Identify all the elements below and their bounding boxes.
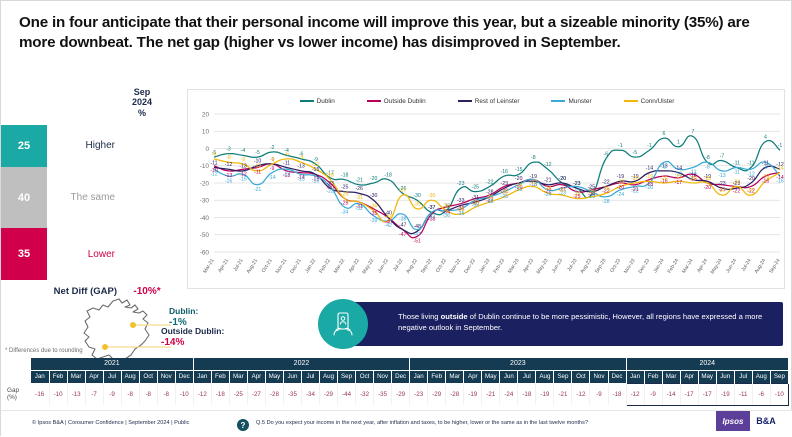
table-month-header: Jul <box>301 370 319 383</box>
table-month-header: Feb <box>428 370 446 383</box>
page-title: One in four anticipate that their person… <box>19 13 775 53</box>
map-note-outside-dublin: Outside Dublin: -14% <box>161 327 224 348</box>
ireland-map <box>75 297 171 365</box>
data-label: -21 <box>355 178 363 184</box>
table-month-header: Jul <box>103 370 121 383</box>
data-label: -25 <box>471 184 479 190</box>
data-label: -12 <box>544 162 552 168</box>
data-label: -22 <box>733 179 741 185</box>
x-tick-label: Mar-24 <box>681 258 695 275</box>
legend-label: Munster <box>568 98 591 105</box>
table-month-header: Jun <box>716 370 734 383</box>
data-label: -20 <box>515 176 523 182</box>
data-label: -36 <box>442 213 450 219</box>
table-month-header: Nov <box>157 370 175 383</box>
footer-bar: © Ipsos B&A | Consumer Confidence | Sept… <box>1 410 792 437</box>
table-value-row: Gap(%)-16-10-13-7-9-8-8-8-10-12-18-25-27… <box>5 383 789 405</box>
data-label: -8 <box>662 165 667 171</box>
data-label: -14 <box>268 175 276 181</box>
x-tick-label: Apr-21 <box>217 258 230 274</box>
net-diff-label: Net Diff (GAP) <box>25 286 117 297</box>
survey-question-text: Q.5 Do you expect your income in the nex… <box>256 419 676 427</box>
line-chart-panel: DublinOutside DublinRest of LeinsterMuns… <box>187 89 785 289</box>
data-label: -39 <box>370 218 378 224</box>
data-label: -22 <box>602 179 610 185</box>
table-month-header: Apr <box>247 370 265 383</box>
x-tick-label: Jun-23 <box>551 258 564 274</box>
data-label: -29 <box>573 191 581 197</box>
data-label: -12 <box>747 171 755 177</box>
data-label: -11 <box>747 160 754 166</box>
data-label: -22 <box>617 179 625 185</box>
net-diff-value: -10%* <box>119 286 175 297</box>
table-month-header: Aug <box>320 370 338 383</box>
legend-label: Conn/Ulster <box>641 98 675 105</box>
bar-label-the-same: The same <box>29 192 115 203</box>
legend-swatch <box>551 100 565 102</box>
data-label: -6 <box>212 152 217 158</box>
data-label: -16 <box>312 178 320 184</box>
y-tick-label: -50 <box>200 232 210 239</box>
x-tick-label: Feb-24 <box>667 258 681 275</box>
x-tick-label: May-24 <box>710 258 724 276</box>
table-gap-value: -6 <box>752 383 770 405</box>
data-label: -30 <box>428 193 436 199</box>
map-dot-dublin <box>130 322 136 328</box>
data-label: -37 <box>428 215 436 221</box>
table-gap-value: -14 <box>662 383 680 405</box>
table-gap-value: -32 <box>356 383 374 405</box>
table-gap-value: -34 <box>301 383 319 405</box>
map-note-outside-label: Outside Dublin: <box>161 326 224 336</box>
bar-column-header: Sep 2024 % <box>109 87 175 118</box>
data-label: -20 <box>617 185 625 191</box>
data-label: -48 <box>413 224 421 230</box>
data-label: -36 <box>442 203 450 209</box>
table-gap-value: -21 <box>554 383 572 405</box>
data-label: -8 <box>705 155 710 161</box>
data-label: -4 <box>241 148 246 154</box>
ipsos-logo-text: Ipsos <box>716 411 750 431</box>
slide-root: One in four anticipate that their person… <box>0 0 792 436</box>
question-mark-icon: ? <box>237 419 249 431</box>
table-month-header: Oct <box>139 370 157 383</box>
x-tick-label: Mar-21 <box>202 258 216 275</box>
data-label: -12 <box>225 162 233 168</box>
copyright-text: © Ipsos B&A | Consumer Confidence | Sept… <box>32 420 189 426</box>
data-label: -24 <box>544 192 552 198</box>
y-tick-label: -10 <box>200 163 210 170</box>
data-label: -1 <box>647 143 652 149</box>
footnote: * Differences due to rounding <box>5 348 83 354</box>
table-month-header: Dec <box>392 370 410 383</box>
data-label: -38 <box>399 216 407 222</box>
table-gap-value: -21 <box>482 383 500 405</box>
data-label: 7 <box>691 129 694 135</box>
y-tick-label: 10 <box>202 129 210 136</box>
table-gap-value: -9 <box>644 383 662 405</box>
data-label: -20 <box>631 176 639 182</box>
table-year-header-row: 2021202220232024 <box>5 358 789 370</box>
data-label: -25 <box>341 184 349 190</box>
table-month-header: Nov <box>590 370 608 383</box>
table-gap-value: -17 <box>680 383 698 405</box>
x-tick-label: Aug-24 <box>754 258 768 275</box>
data-label: -30 <box>370 193 378 199</box>
gap-timeline-table: 2021202220232024 JanFebMarAprJulAugOctNo… <box>5 358 789 408</box>
legend-item-rest-of-leinster[interactable]: Rest of Leinster <box>458 98 520 105</box>
callout-box: Those living outside of Dublin continue … <box>334 302 783 346</box>
table-gap-value: -28 <box>446 383 464 405</box>
data-label: -23 <box>457 181 465 187</box>
data-label: -20 <box>704 176 712 182</box>
chart-legend: DublinOutside DublinRest of LeinsterMuns… <box>188 94 786 108</box>
table-year-2023: 2023 <box>410 358 626 370</box>
x-tick-label: Jul-21 <box>232 258 244 273</box>
data-label: -33 <box>457 198 465 204</box>
table-gap-value: -18 <box>211 383 229 405</box>
data-label: -31 <box>355 195 363 201</box>
data-label: -47 <box>399 232 407 238</box>
table-month-header: Jul <box>734 370 752 383</box>
data-label: -19 <box>675 174 683 180</box>
data-label: -13 <box>718 173 726 179</box>
x-tick-label: Aug-21 <box>246 258 260 275</box>
table-month-header: Aug <box>121 370 139 383</box>
data-label: -8 <box>531 155 536 161</box>
table-month-header: Jan <box>410 370 428 383</box>
x-tick-label: Jul-24 <box>740 258 752 273</box>
table-month-header: Sep <box>770 370 788 383</box>
x-tick-label: May-23 <box>536 258 550 276</box>
table-gap-value: -35 <box>374 383 392 405</box>
table-month-header: May <box>265 370 283 383</box>
data-label: -34 <box>471 200 479 206</box>
x-tick-label: Oct-21 <box>261 258 274 274</box>
bar-header-year: 2024 <box>132 97 152 107</box>
data-label: -29 <box>341 201 349 207</box>
table-gap-value: -19 <box>464 383 482 405</box>
legend-item-munster[interactable]: Munster <box>551 98 591 105</box>
data-label: -26 <box>602 186 610 192</box>
x-tick-label: May-22 <box>361 258 375 276</box>
x-tick-label: Jul-23 <box>566 258 578 273</box>
table-month-header: Aug <box>536 370 554 383</box>
data-label: -17 <box>675 180 683 186</box>
data-label: -8 <box>705 165 710 171</box>
table-gap-value: -18 <box>518 383 536 405</box>
data-label: -18 <box>384 172 392 178</box>
data-label: -15 <box>297 177 305 183</box>
x-tick-label: Jan-24 <box>652 258 665 274</box>
bar-header-month: Sep <box>134 87 151 97</box>
data-label: -20 <box>689 176 697 182</box>
data-label: -36 <box>370 203 378 209</box>
x-tick-label: Jan-22 <box>304 258 317 274</box>
table-corner-2 <box>5 370 31 383</box>
table-year-2021: 2021 <box>31 358 193 370</box>
data-label: -23 <box>573 181 581 187</box>
table-gap-value: -9 <box>590 383 608 405</box>
table-month-header: Mar <box>446 370 464 383</box>
x-tick-label: Jul-22 <box>392 258 404 273</box>
data-label: -1 <box>778 143 783 149</box>
table-gap-value: -12 <box>572 383 590 405</box>
table-gap-value: -12 <box>626 383 644 405</box>
data-label: -19 <box>762 174 770 180</box>
data-label: -22 <box>530 179 538 185</box>
x-tick-label: Mar-22 <box>333 258 347 275</box>
table-gap-value: -23 <box>410 383 428 405</box>
gap-label-line1: Gap <box>7 387 31 394</box>
data-label: -27 <box>747 188 755 194</box>
legend-label: Outside Dublin <box>384 98 426 105</box>
data-label: -37 <box>428 205 436 211</box>
data-label: -13 <box>297 164 305 170</box>
data-label: -19 <box>646 174 654 180</box>
gap-label-line2: (%) <box>7 394 31 401</box>
table-month-header: Jan <box>626 370 644 383</box>
table-month-header: Apr <box>85 370 103 383</box>
legend-item-outside-dublin[interactable]: Outside Dublin <box>367 98 426 105</box>
table-gap-value: -28 <box>265 383 283 405</box>
table-gap-value: -10 <box>770 383 788 405</box>
data-label: -20 <box>370 176 378 182</box>
data-label: -15 <box>515 167 523 173</box>
x-tick-label: Jun-24 <box>725 258 738 274</box>
data-label: -23 <box>501 181 509 187</box>
data-label: -16 <box>776 178 784 184</box>
timeline-table: 2021202220232024 JanFebMarAprJulAugOctNo… <box>5 358 789 406</box>
table-month-header: May <box>698 370 716 383</box>
table-month-header: Apr <box>464 370 482 383</box>
data-label: -9 <box>241 157 246 163</box>
data-label: -22 <box>631 189 639 195</box>
table-month-header: Feb <box>211 370 229 383</box>
data-label: 4 <box>764 134 767 140</box>
data-label: -6 <box>284 152 289 158</box>
data-label: -47 <box>413 232 421 238</box>
table-month-header: Mar <box>662 370 680 383</box>
legend-item-dublin[interactable]: Dublin <box>300 98 335 105</box>
x-tick-label: Feb-23 <box>493 258 507 275</box>
table-month-header: May <box>482 370 500 383</box>
gap-row-label: Gap(%) <box>5 383 31 405</box>
data-label: -16 <box>225 178 233 184</box>
data-label: -5 <box>255 150 260 156</box>
table-gap-value: -19 <box>536 383 554 405</box>
data-label: -28 <box>501 190 509 196</box>
x-tick-label: Nov-23 <box>623 258 637 275</box>
x-tick-label: Oct-22 <box>435 258 448 274</box>
table-gap-value: -29 <box>428 383 446 405</box>
data-label: -35 <box>413 202 421 208</box>
data-label: -27 <box>399 188 407 194</box>
data-label: -28 <box>588 190 596 196</box>
table-month-header: Mar <box>67 370 85 383</box>
table-month-header: Mar <box>229 370 247 383</box>
data-label: -24 <box>617 192 625 198</box>
legend-swatch <box>367 100 381 102</box>
chart-x-axis: Mar-21Apr-21Jul-21Aug-21Oct-21Nov-21Dec-… <box>188 256 786 290</box>
x-tick-label: Oct-23 <box>609 258 622 274</box>
table-gap-value: -13 <box>67 383 85 405</box>
data-label: -42 <box>384 223 392 229</box>
y-tick-label: -20 <box>200 180 210 187</box>
data-label: -21 <box>544 178 552 184</box>
y-tick-label: 0 <box>205 146 209 153</box>
x-tick-label: Jun-22 <box>377 258 390 274</box>
table-gap-value: -29 <box>320 383 338 405</box>
data-label: -9 <box>270 166 275 172</box>
data-label: -8 <box>299 155 304 161</box>
y-tick-label: -30 <box>200 198 210 205</box>
data-label: -15 <box>312 167 320 173</box>
legend-swatch <box>300 100 314 102</box>
table-corner <box>5 358 31 370</box>
data-label: -22 <box>486 179 494 185</box>
table-gap-value: -27 <box>247 383 265 405</box>
table-gap-value: -12 <box>193 383 211 405</box>
data-label: -23 <box>326 181 334 187</box>
x-tick-label: Apr-22 <box>348 258 361 274</box>
table-month-header: Feb <box>49 370 67 383</box>
x-tick-label: Sep-22 <box>420 258 434 275</box>
table-month-header: Apr <box>680 370 698 383</box>
x-tick-label: Sep-24 <box>768 258 782 275</box>
data-label: -11 <box>689 170 696 176</box>
legend-label: Dublin <box>317 98 335 105</box>
ba-logo-text: B&A <box>750 411 782 431</box>
data-label: -13 <box>239 164 247 170</box>
table-month-header: Oct <box>572 370 590 383</box>
x-tick-label: Dec-21 <box>289 258 303 275</box>
table-month-header: Jan <box>193 370 211 383</box>
data-label: -30 <box>413 193 421 199</box>
data-label: -5 <box>633 150 638 156</box>
data-label: -14 <box>646 165 654 171</box>
data-label: -42 <box>384 214 392 220</box>
table-month-header: Sep <box>338 370 356 383</box>
table-gap-value: -29 <box>392 383 410 405</box>
y-tick-label: -60 <box>200 249 210 256</box>
data-label: -12 <box>210 171 218 177</box>
data-label: -11 <box>254 170 261 176</box>
table-gap-value: -10 <box>49 383 67 405</box>
table-gap-value: -8 <box>157 383 175 405</box>
callout-bold-word: outside <box>441 312 468 321</box>
data-label: -11 <box>733 170 740 176</box>
data-label: -27 <box>559 188 567 194</box>
bar-header-unit: % <box>138 108 146 118</box>
data-label: -20 <box>660 176 668 182</box>
table-gap-value: -10 <box>175 383 193 405</box>
data-label: -38 <box>457 207 465 213</box>
data-label: -12 <box>312 162 320 168</box>
x-tick-label: Feb-22 <box>318 258 332 275</box>
table-gap-value: -9 <box>103 383 121 405</box>
table-month-header: Sep <box>554 370 572 383</box>
x-tick-label: Apr-24 <box>696 258 709 274</box>
data-label: -26 <box>544 186 552 192</box>
data-label: -6 <box>604 152 609 158</box>
table-month-header: Aug <box>752 370 770 383</box>
table-month-header: Jan <box>31 370 49 383</box>
data-label: 1 <box>677 140 680 146</box>
data-label: -15 <box>239 177 247 183</box>
bar-label-lower: Lower <box>29 249 115 260</box>
data-label: -11 <box>283 160 290 166</box>
table-year-2022: 2022 <box>193 358 409 370</box>
x-tick-label: Nov-22 <box>449 258 463 275</box>
data-label: -14 <box>776 165 784 171</box>
legend-item-conn-ulster[interactable]: Conn/Ulster <box>624 98 675 105</box>
table-year-2024: 2024 <box>626 358 788 370</box>
table-gap-value: -17 <box>698 383 716 405</box>
legend-label: Rest of Leinster <box>475 98 520 105</box>
data-label: -24 <box>515 183 523 189</box>
data-label: -26 <box>355 186 363 192</box>
table-gap-value: -7 <box>85 383 103 405</box>
data-label: -35 <box>370 211 378 217</box>
table-gap-value: -19 <box>716 383 734 405</box>
data-label: 6 <box>662 131 665 137</box>
data-label: -18 <box>341 172 349 178</box>
x-tick-label: Apr-23 <box>522 258 535 274</box>
map-note-dublin-label: Dublin: <box>169 306 198 316</box>
y-tick-label: 20 <box>202 111 210 118</box>
data-label: -22 <box>326 189 334 195</box>
table-gap-value: -18 <box>608 383 626 405</box>
x-tick-label: Aug-23 <box>579 258 593 275</box>
data-label: -7 <box>720 153 725 159</box>
data-label: -20 <box>704 185 712 191</box>
table-gap-value: -16 <box>31 383 49 405</box>
data-label: -12 <box>283 171 291 177</box>
data-label: -11 <box>733 160 740 166</box>
table-gap-value: -35 <box>283 383 301 405</box>
chart-plot-area: 20100-10-20-30-40-50-60-5-3-4-5-2-4-6-9-… <box>188 108 786 256</box>
data-label: -23 <box>718 181 726 187</box>
legend-swatch <box>624 100 638 102</box>
table-gap-value: -8 <box>121 383 139 405</box>
data-label: -28 <box>602 199 610 205</box>
table-month-header: Jun <box>283 370 301 383</box>
table-month-header: Oct <box>356 370 374 383</box>
map-dot-outside-dublin <box>102 344 108 350</box>
person-mobile-icon <box>318 299 368 349</box>
data-label: -11 <box>210 160 217 166</box>
data-label: -13 <box>254 164 262 170</box>
data-label: -20 <box>559 176 567 182</box>
data-label: -47 <box>399 222 407 228</box>
data-label: -29 <box>341 191 349 197</box>
data-label: -31 <box>486 195 494 201</box>
data-label: -32 <box>355 206 363 212</box>
callout-text: Those living outside of Dublin continue … <box>398 311 776 334</box>
data-label: -8 <box>763 165 768 171</box>
legend-swatch <box>458 100 472 102</box>
table-month-header: Dec <box>608 370 626 383</box>
x-tick-label: Aug-22 <box>405 258 419 275</box>
data-label: -3 <box>226 146 231 152</box>
table-month-header-row: JanFebMarAprJulAugOctNovDecJanFebMarAprM… <box>5 370 789 383</box>
data-label: -18 <box>326 172 334 178</box>
ipsos-ba-logo: Ipsos B&A <box>716 411 782 431</box>
data-label: -22 <box>733 189 741 195</box>
data-label: -20 <box>646 185 654 191</box>
data-label: -16 <box>501 169 509 175</box>
